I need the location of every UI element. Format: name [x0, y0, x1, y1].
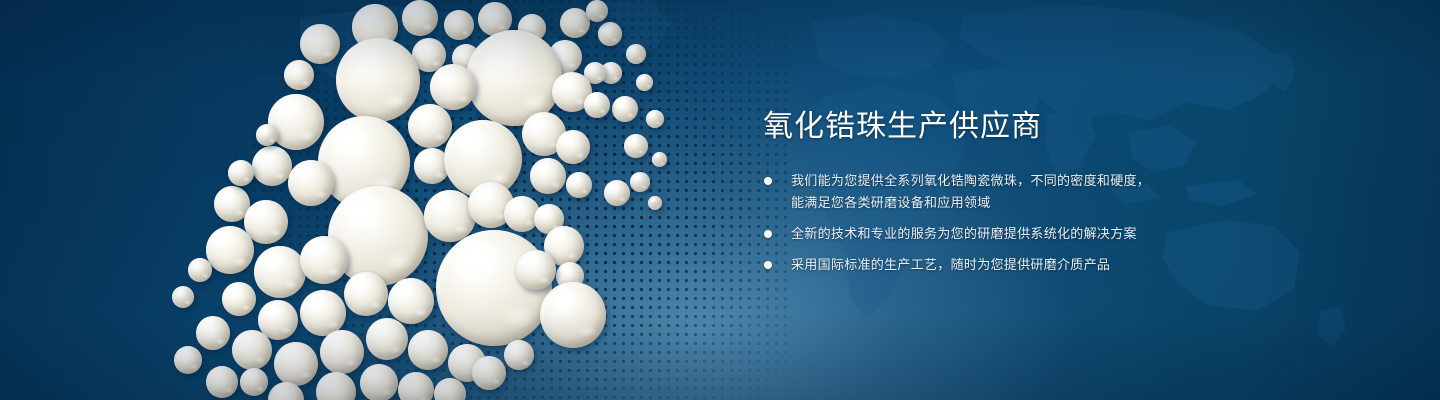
- list-item-line: 我们能为您提供全系列氧化锆陶瓷微珠，不同的密度和硬度，: [791, 170, 1383, 192]
- bullet-dot-icon: [764, 177, 772, 185]
- banner-feature-list: 我们能为您提供全系列氧化锆陶瓷微珠，不同的密度和硬度， 能满足您各类研磨设备和应…: [763, 170, 1383, 276]
- banner-title: 氧化锆珠生产供应商: [763, 108, 1042, 146]
- list-item-line: 全新的技术和专业的服务为您的研磨提供系统化的解决方案: [791, 223, 1383, 245]
- bullet-dot-icon: [764, 230, 772, 238]
- list-item: 采用国际标准的生产工艺，随时为您提供研磨介质产品: [763, 254, 1383, 276]
- list-item-line: 能满足您各类研磨设备和应用领域: [791, 192, 1383, 214]
- banner-copy: 氧化锆珠生产供应商 我们能为您提供全系列氧化锆陶瓷微珠，不同的密度和硬度， 能满…: [763, 0, 1383, 400]
- list-item: 我们能为您提供全系列氧化锆陶瓷微珠，不同的密度和硬度， 能满足您各类研磨设备和应…: [763, 170, 1383, 214]
- hero-banner: 氧化锆珠生产供应商 我们能为您提供全系列氧化锆陶瓷微珠，不同的密度和硬度， 能满…: [0, 0, 1440, 400]
- list-item: 全新的技术和专业的服务为您的研磨提供系统化的解决方案: [763, 223, 1383, 245]
- list-item-line: 采用国际标准的生产工艺，随时为您提供研磨介质产品: [791, 254, 1383, 276]
- bullet-dot-icon: [764, 261, 772, 269]
